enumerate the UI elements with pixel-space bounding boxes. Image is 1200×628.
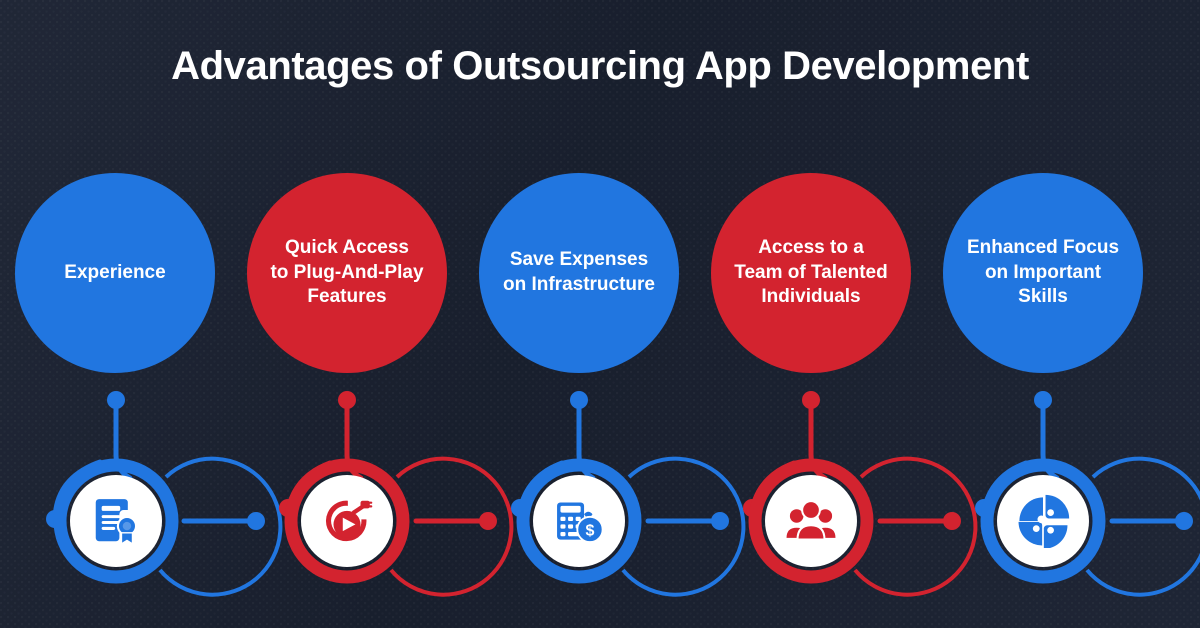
icon-badge-experience[interactable] xyxy=(70,475,162,567)
svg-text:$: $ xyxy=(586,521,595,539)
icon-badge-save-expenses[interactable]: $ xyxy=(533,475,625,567)
plug-play-icon xyxy=(320,494,374,548)
icon-badge-enhanced-focus[interactable] xyxy=(997,475,1089,567)
certificate-award-icon xyxy=(89,494,143,548)
calculator-money-icon: $ xyxy=(552,494,606,548)
team-group-icon xyxy=(784,494,838,548)
icon-row: $ xyxy=(0,0,1200,628)
icon-badge-plug-and-play[interactable] xyxy=(301,475,393,567)
icon-badge-team[interactable] xyxy=(765,475,857,567)
puzzle-circle-icon xyxy=(1016,494,1070,548)
